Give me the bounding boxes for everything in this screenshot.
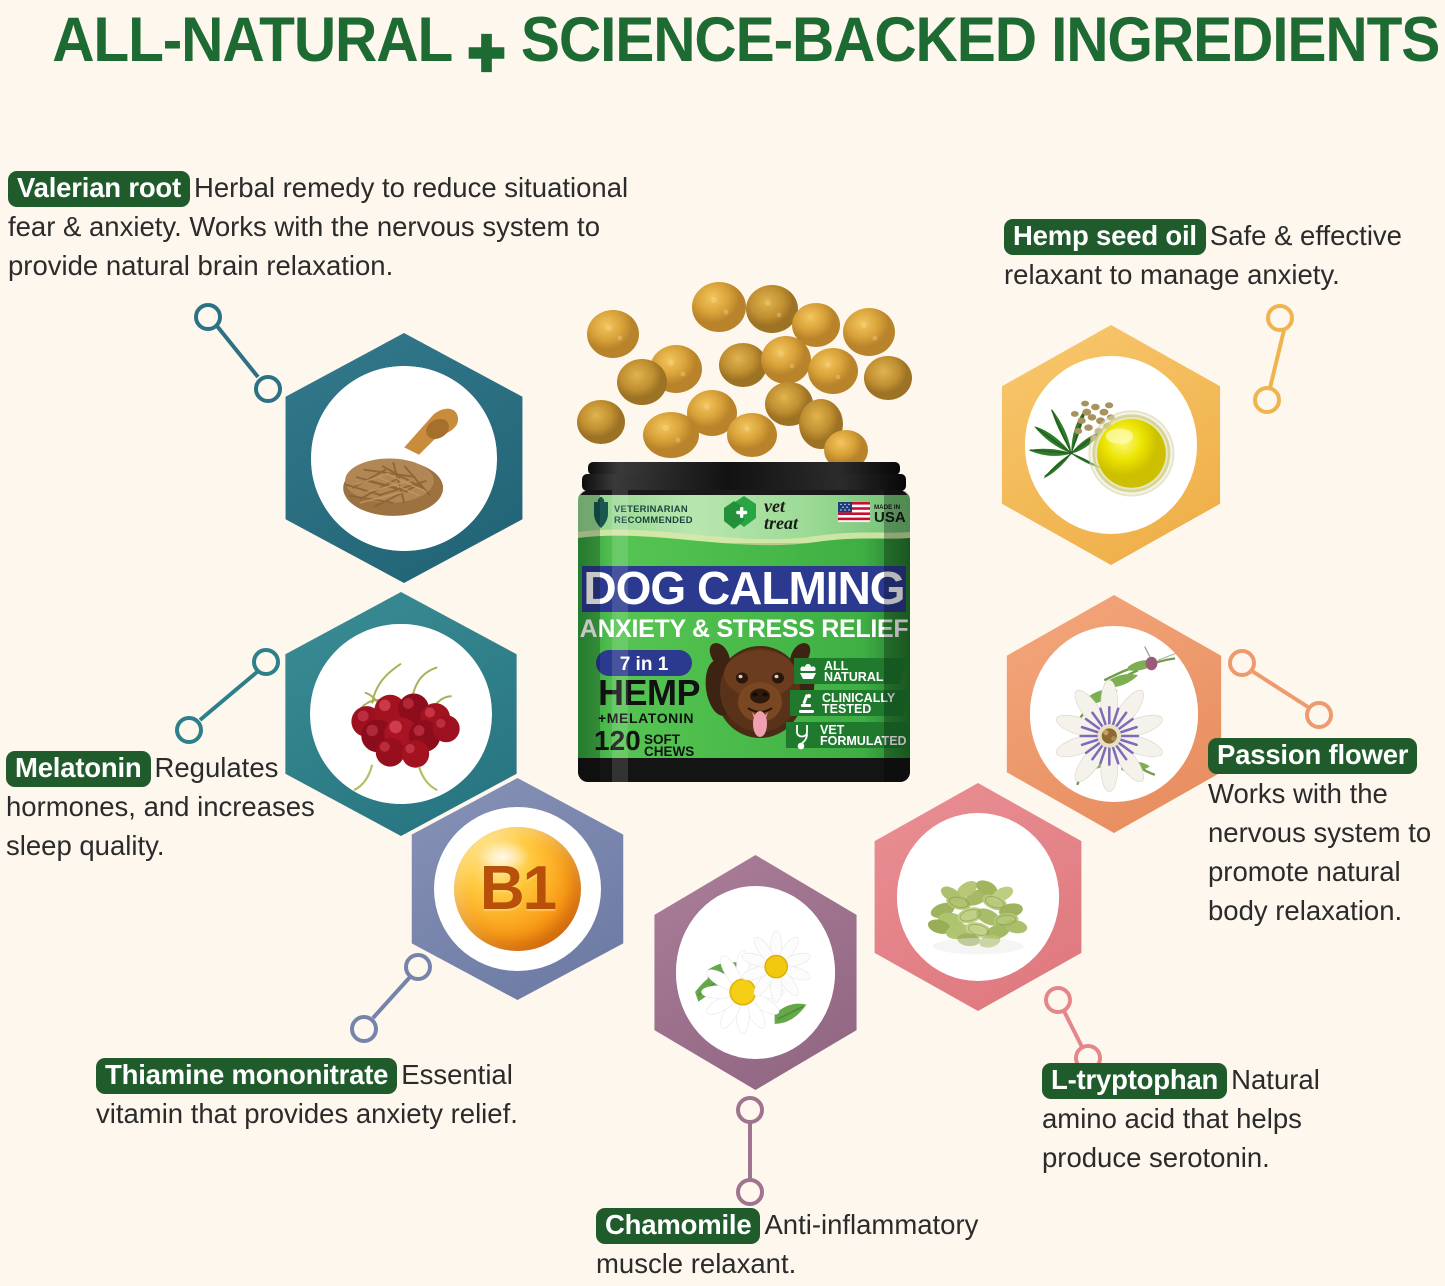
connector-hemp	[1245, 300, 1355, 420]
vitamin-b1-label: B1	[480, 853, 555, 924]
product-jar[interactable]: VETERINARIAN RECOMMENDED vet treat	[566, 462, 922, 787]
l-tryptophan-image	[897, 813, 1060, 982]
description-passion-flower: Works with the nervous system to promote…	[1208, 778, 1431, 926]
chamomile-daisy-flowers-photo	[676, 886, 835, 1060]
page-title: ALL-NATURAL SCIENCE-BACKED INGREDIENTS	[0, 4, 1445, 76]
callout-thiamine-mononitrate: Thiamine mononitrateEssential vitamin th…	[96, 1055, 566, 1133]
callout-hemp-seed-oil: Hemp seed oilSafe & effective relaxant t…	[1004, 216, 1424, 294]
chamomile-image	[676, 886, 835, 1060]
svg-text:treat: treat	[764, 513, 799, 533]
page-title-part2: SCIENCE-BACKED INGREDIENTS	[521, 4, 1439, 76]
svg-text:ANXIETY & STRESS RELIEF: ANXIETY & STRESS RELIEF	[580, 615, 909, 643]
badge-melatonin: Melatonin	[6, 751, 151, 787]
hemp-leaf-seeds-and-oil-bowl-photo	[1025, 356, 1197, 534]
green-medical-cross-icon	[465, 19, 508, 65]
hemp-seed-oil-image	[1025, 356, 1197, 534]
ingredient-hexagon-l-tryptophan[interactable]	[868, 783, 1088, 1011]
badge-chamomile: Chamomile	[596, 1208, 760, 1244]
product-package[interactable]: VETERINARIAN RECOMMENDED vet treat	[566, 270, 936, 800]
passion-flower-image	[1030, 626, 1199, 802]
connector-chamomile	[725, 1095, 775, 1210]
svg-text:TESTED: TESTED	[822, 702, 871, 716]
callout-melatonin: MelatoninRegulates hormones, and increas…	[6, 748, 351, 865]
svg-text:DOG CALMING: DOG CALMING	[583, 562, 904, 614]
pumpkin-seeds-photo	[897, 813, 1060, 982]
badge-hemp-seed-oil: Hemp seed oil	[1004, 219, 1206, 255]
ingredient-hexagon-hemp-seed-oil[interactable]	[995, 325, 1227, 565]
callout-l-tryptophan: L-tryptophanNatural amino acid that help…	[1042, 1060, 1362, 1177]
svg-text:NATURAL: NATURAL	[824, 670, 884, 684]
valerian-root-image	[311, 366, 497, 551]
page-title-part1: ALL-NATURAL	[52, 4, 452, 76]
ingredient-hexagon-thiamine-mononitrate[interactable]: B1	[405, 778, 630, 1000]
connector-melatonin	[165, 645, 295, 755]
passion-flower-photo	[1030, 626, 1199, 802]
badge-l-tryptophan: L-tryptophan	[1042, 1063, 1227, 1099]
valerian-root-with-wooden-scoop-photo	[311, 366, 497, 551]
badge-thiamine-mononitrate: Thiamine mononitrate	[96, 1058, 397, 1094]
ingredient-hexagon-valerian-root[interactable]	[278, 333, 530, 583]
ingredient-hexagon-chamomile[interactable]	[648, 855, 863, 1090]
callout-valerian-root: Valerian rootHerbal remedy to reduce sit…	[8, 168, 668, 285]
connector-passion	[1222, 645, 1352, 735]
vitamin-sphere: B1	[454, 827, 581, 952]
vitamin-b1-sphere: B1	[434, 807, 601, 971]
soft-chews-scatter	[576, 270, 926, 480]
svg-text:CHEWS: CHEWS	[644, 744, 694, 759]
badge-valerian-root: Valerian root	[8, 171, 190, 207]
badge-passion-flower: Passion flower	[1208, 738, 1417, 774]
callout-passion-flower: Passion flowerWorks with the nervous sys…	[1208, 735, 1445, 930]
callout-chamomile: ChamomileAnti-inflammatory muscle relaxa…	[596, 1205, 1016, 1283]
